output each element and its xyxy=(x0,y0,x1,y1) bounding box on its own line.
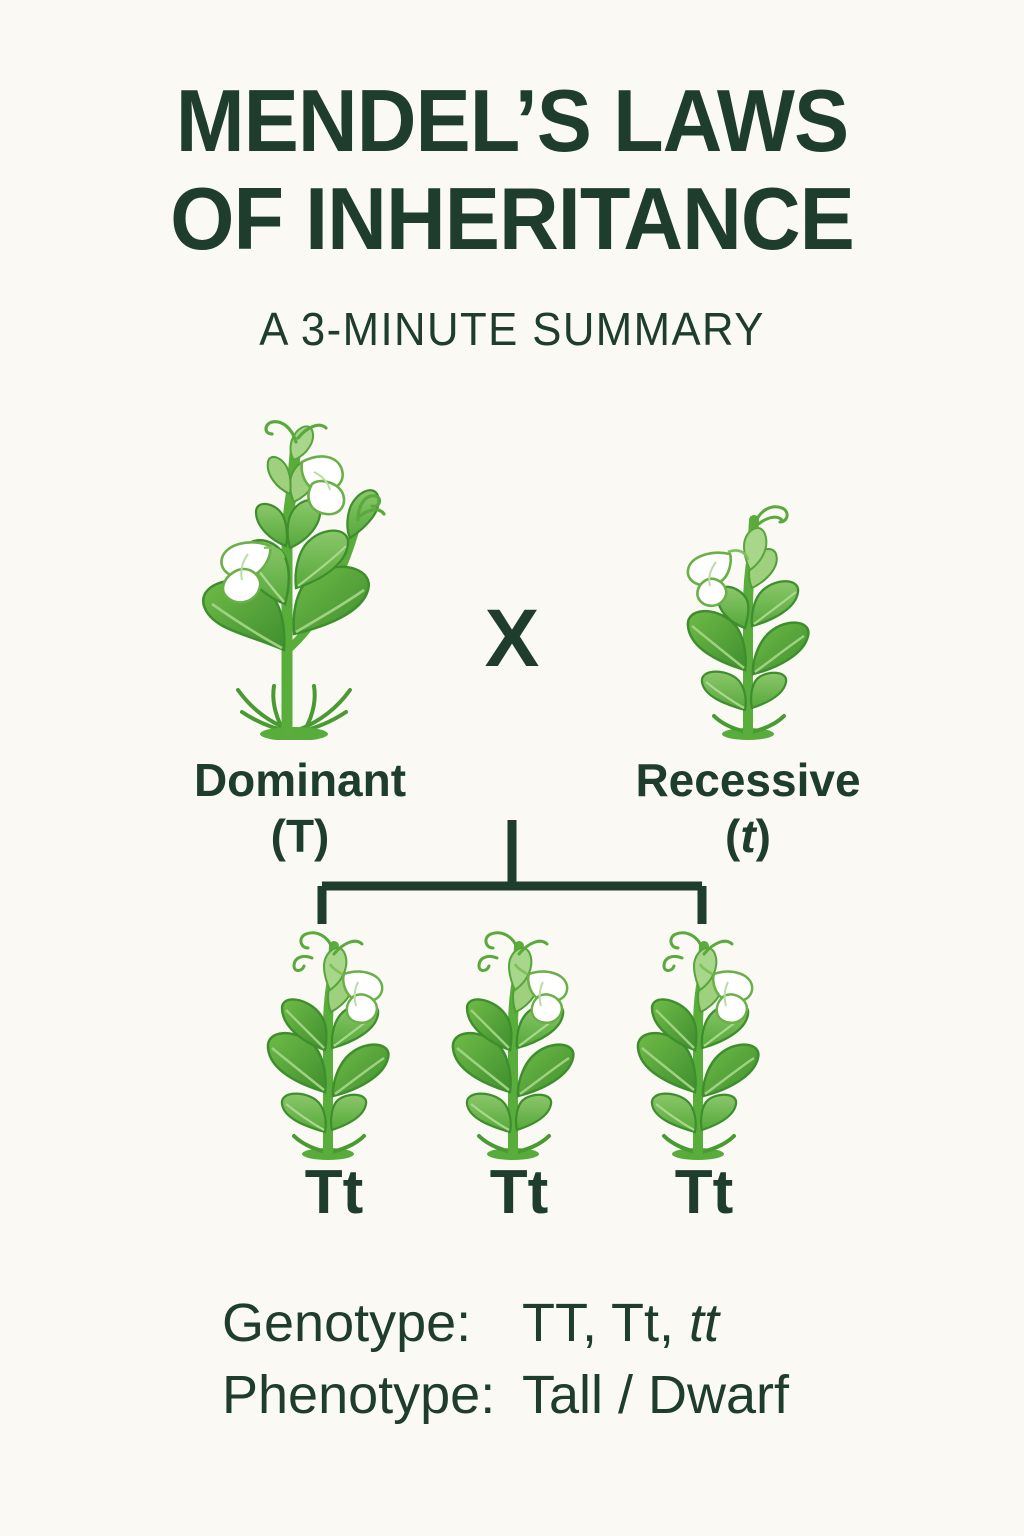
parent-name-dominant: Dominant xyxy=(140,752,460,808)
title-line-1: MENDEL’S LAWS xyxy=(31,72,994,170)
cross-symbol: X xyxy=(462,598,562,680)
genotype-value: TT, Tt, tt xyxy=(522,1292,719,1354)
genotype-value-plain: TT, Tt, xyxy=(522,1293,689,1353)
offspring-genotype-label: Tt xyxy=(252,1158,416,1228)
phenotype-key: Phenotype: xyxy=(222,1364,522,1426)
parent-name-recessive: Recessive xyxy=(580,752,916,808)
pea-plant-icon xyxy=(622,928,786,1162)
dwarf-pea-plant-icon xyxy=(668,498,834,742)
infographic-poster: MENDEL’S LAWS OF INHERITANCE A 3-MINUTE … xyxy=(0,0,1024,1536)
pedigree-connector xyxy=(312,818,712,938)
title-line-2: OF INHERITANCE xyxy=(31,170,994,268)
offspring-genotype-label: Tt xyxy=(622,1158,786,1228)
tall-pea-plant-icon xyxy=(186,398,410,740)
phenotype-value: Tall / Dwarf xyxy=(522,1364,789,1426)
paren-close: ) xyxy=(756,810,771,862)
offspring-genotype-label: Tt xyxy=(437,1158,601,1228)
summary-block: Genotype: TT, Tt, tt Phenotype: Tall / D… xyxy=(0,1292,1024,1436)
genotype-row: Genotype: TT, Tt, tt xyxy=(0,1292,1024,1364)
phenotype-row: Phenotype: Tall / Dwarf xyxy=(0,1364,1024,1436)
paren-open: ( xyxy=(725,810,740,862)
genotype-key: Genotype: xyxy=(222,1292,522,1354)
pea-plant-icon xyxy=(437,928,601,1162)
genotype-value-italic: tt xyxy=(689,1293,719,1353)
title-block: MENDEL’S LAWS OF INHERITANCE A 3-MINUTE … xyxy=(0,72,1024,356)
pea-plant-icon xyxy=(252,928,416,1162)
allele-letter-recessive: t xyxy=(740,810,755,862)
subtitle: A 3-MINUTE SUMMARY xyxy=(26,302,999,356)
